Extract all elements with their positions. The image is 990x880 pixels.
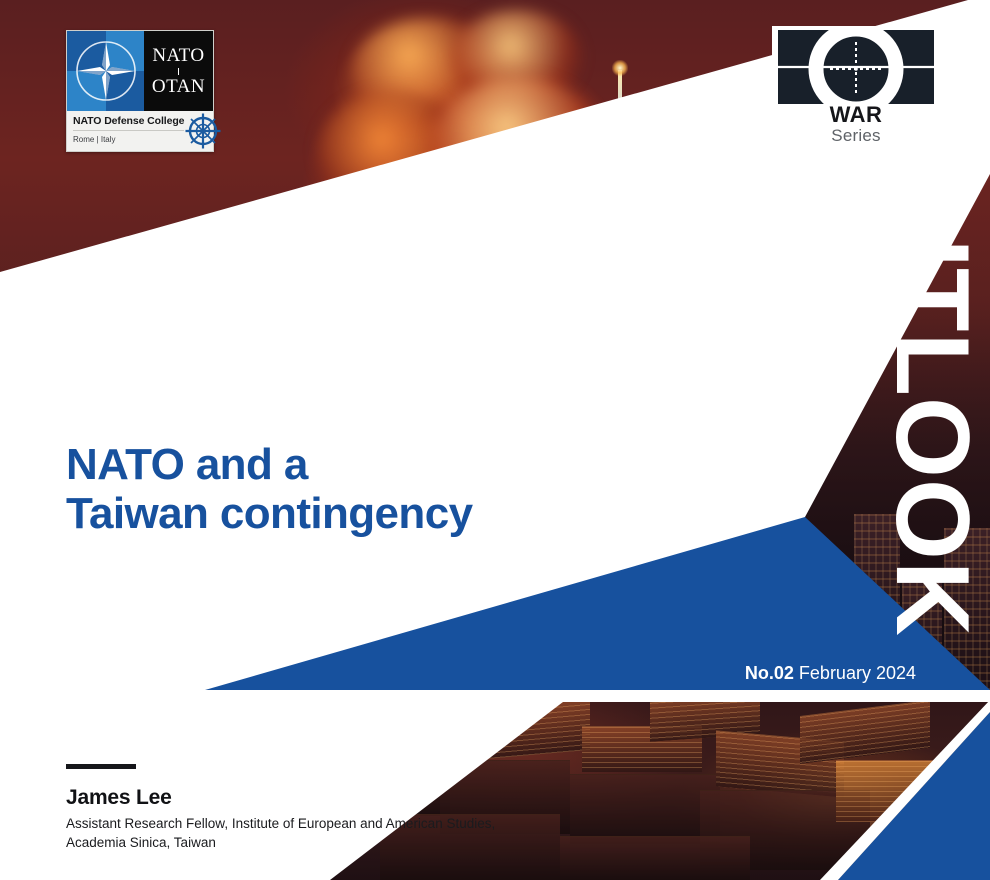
nato-acronym-en: NATO — [152, 46, 204, 66]
issue-date: February 2024 — [799, 663, 916, 683]
author-affiliation-line-1: Assistant Research Fellow, Institute of … — [66, 815, 586, 834]
war-series-badge: WAR Series — [772, 26, 940, 148]
page-title-line-1: NATO and a — [66, 440, 626, 489]
issue-number: No.02 — [745, 663, 794, 683]
nato-defense-college-logo: NATO OTAN NATO Defense College Rome | It… — [66, 30, 214, 152]
nato-acronym-divider — [178, 68, 179, 75]
author-rule — [66, 764, 136, 769]
nato-emblem-quadrants — [67, 31, 144, 111]
publication-cover: OUTLOOK — [0, 0, 990, 880]
nato-compass-star-icon — [74, 39, 138, 103]
institution-location: Rome | Italy — [73, 130, 184, 144]
war-series-word: WAR — [772, 104, 940, 126]
author-name: James Lee — [66, 786, 172, 810]
author-affiliation: Assistant Research Fellow, Institute of … — [66, 815, 586, 852]
institution-name: NATO Defense College — [73, 111, 184, 127]
war-series-sub: Series — [772, 127, 940, 144]
author-affiliation-line-2: Academia Sinica, Taiwan — [66, 834, 586, 853]
ndc-compass-rose-icon — [184, 112, 222, 150]
page-title-line-2: Taiwan contingency — [66, 489, 626, 538]
page-title: NATO and a Taiwan contingency — [66, 440, 626, 539]
crosshair-target-icon — [772, 26, 940, 108]
nato-acronym-fr: OTAN — [152, 77, 205, 97]
issue-line: No.02 February 2024 — [745, 663, 916, 684]
